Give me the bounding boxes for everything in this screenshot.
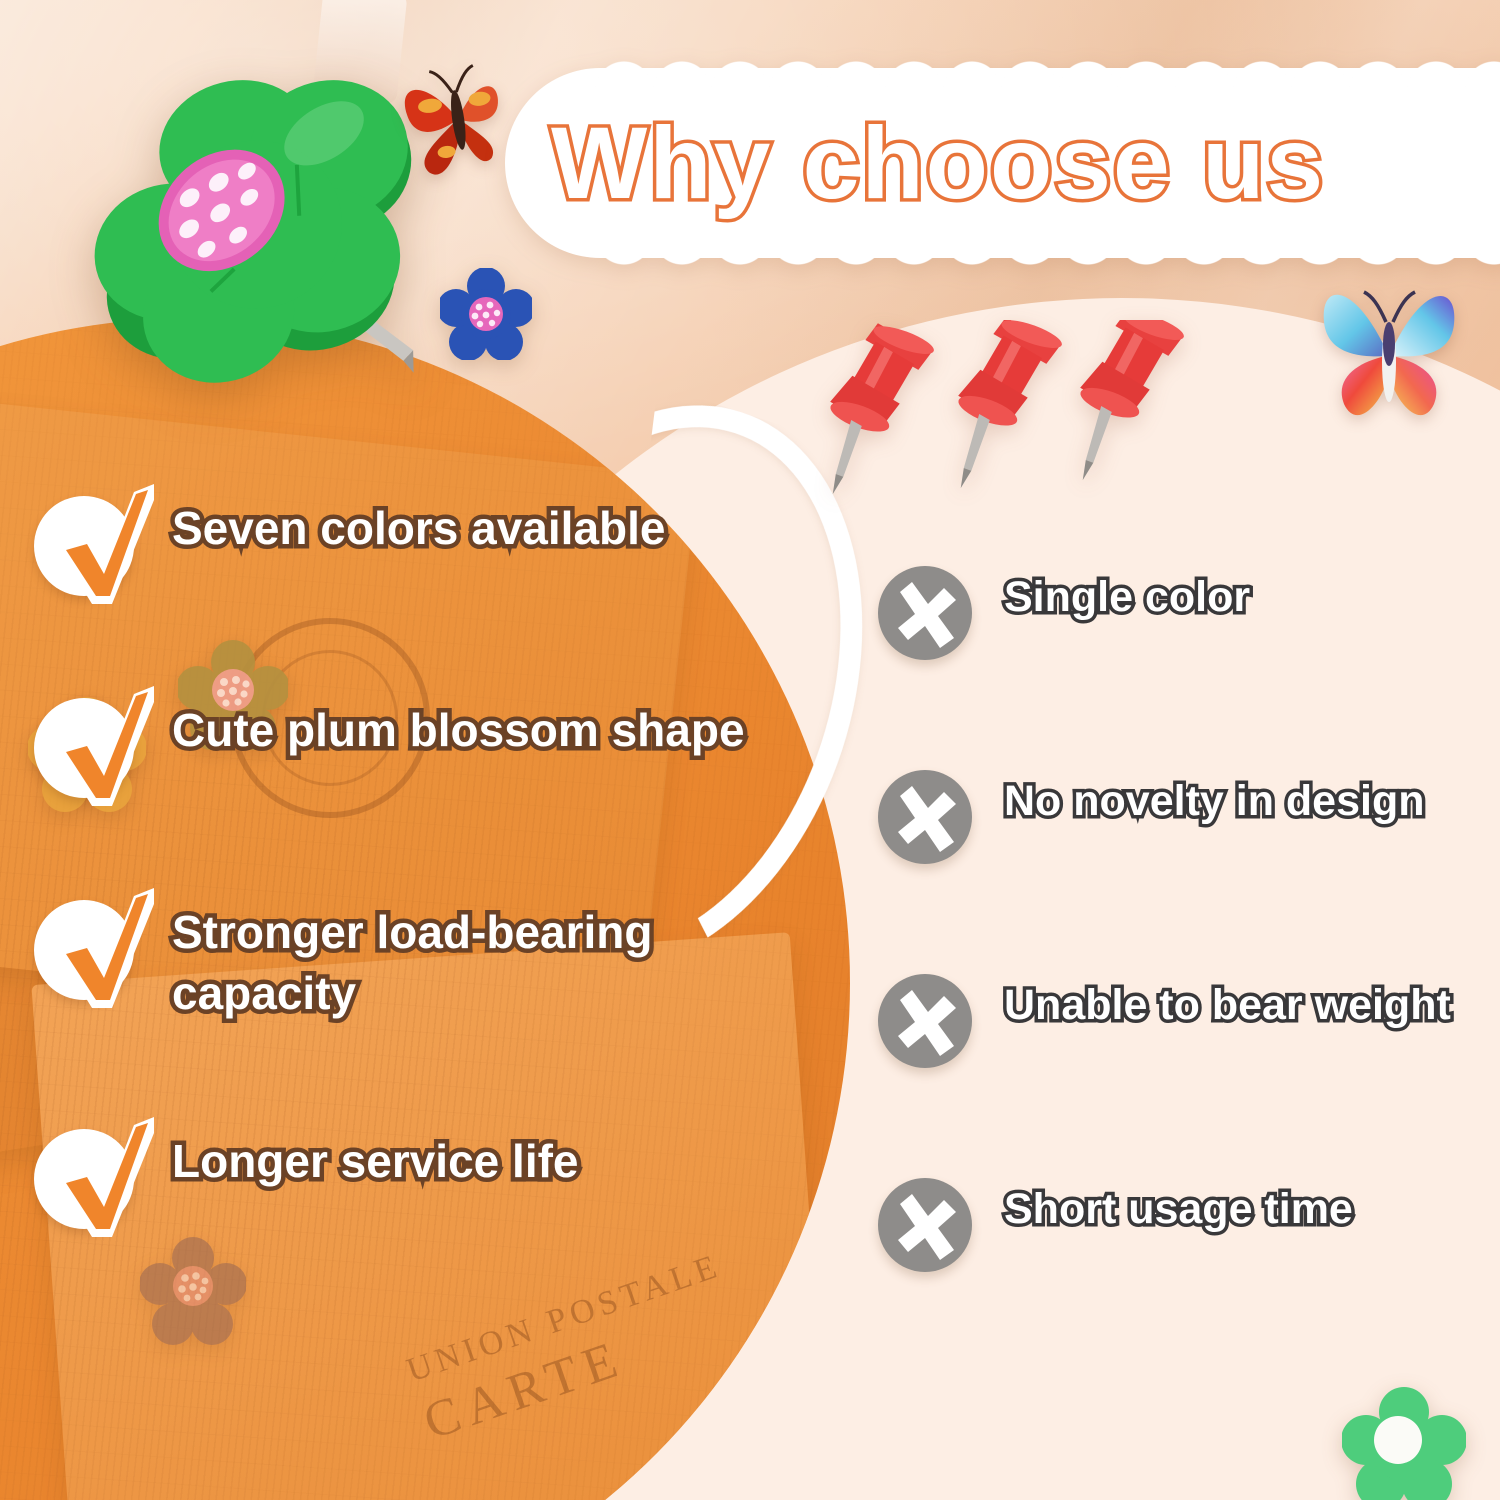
list-item-label: Unable to bear weight (1004, 976, 1451, 1034)
green-flower-icon (1342, 1386, 1466, 1500)
list-item-label: Short usage time (1004, 1180, 1353, 1238)
check-icon (34, 1121, 138, 1225)
list-item: No novelty in design (878, 772, 1478, 864)
blue-flower-push-pin-icon (440, 268, 532, 360)
cons-list: Single color No novelty in design Unable… (878, 568, 1478, 1272)
list-item: Short usage time (878, 1180, 1478, 1272)
list-item: Cute plum blossom shape (34, 694, 834, 794)
rainbow-butterfly-icon (1296, 270, 1482, 436)
list-item-label: Longer service life (172, 1125, 579, 1192)
check-icon (34, 690, 138, 794)
check-icon (34, 488, 138, 592)
x-icon (878, 770, 972, 864)
list-item: Single color (878, 568, 1478, 660)
x-icon (878, 1178, 972, 1272)
pros-list: Seven colors available Cute plum blossom… (34, 492, 834, 1225)
list-item: Stronger load-bearing capacity (34, 896, 834, 1023)
list-item-label: No novelty in design (1004, 772, 1425, 830)
x-icon (878, 566, 972, 660)
x-icon (878, 974, 972, 1068)
title-banner: Why choose us (505, 68, 1500, 258)
list-item: Unable to bear weight (878, 976, 1478, 1068)
tan-flower-push-pin-icon (140, 1236, 246, 1348)
red-butterfly-icon (398, 58, 518, 176)
list-item: Seven colors available (34, 492, 834, 592)
list-item-label: Cute plum blossom shape (172, 694, 745, 761)
page-title: Why choose us (505, 68, 1500, 258)
list-item-label: Stronger load-bearing capacity (172, 896, 832, 1023)
check-icon (34, 892, 138, 996)
list-item: Longer service life (34, 1125, 834, 1225)
list-item-label: Single color (1004, 568, 1250, 626)
red-push-pin-group-icon (800, 320, 1200, 520)
list-item-label: Seven colors available (172, 492, 666, 559)
infographic-stage: UNION POSTALE CARTE (0, 0, 1500, 1500)
